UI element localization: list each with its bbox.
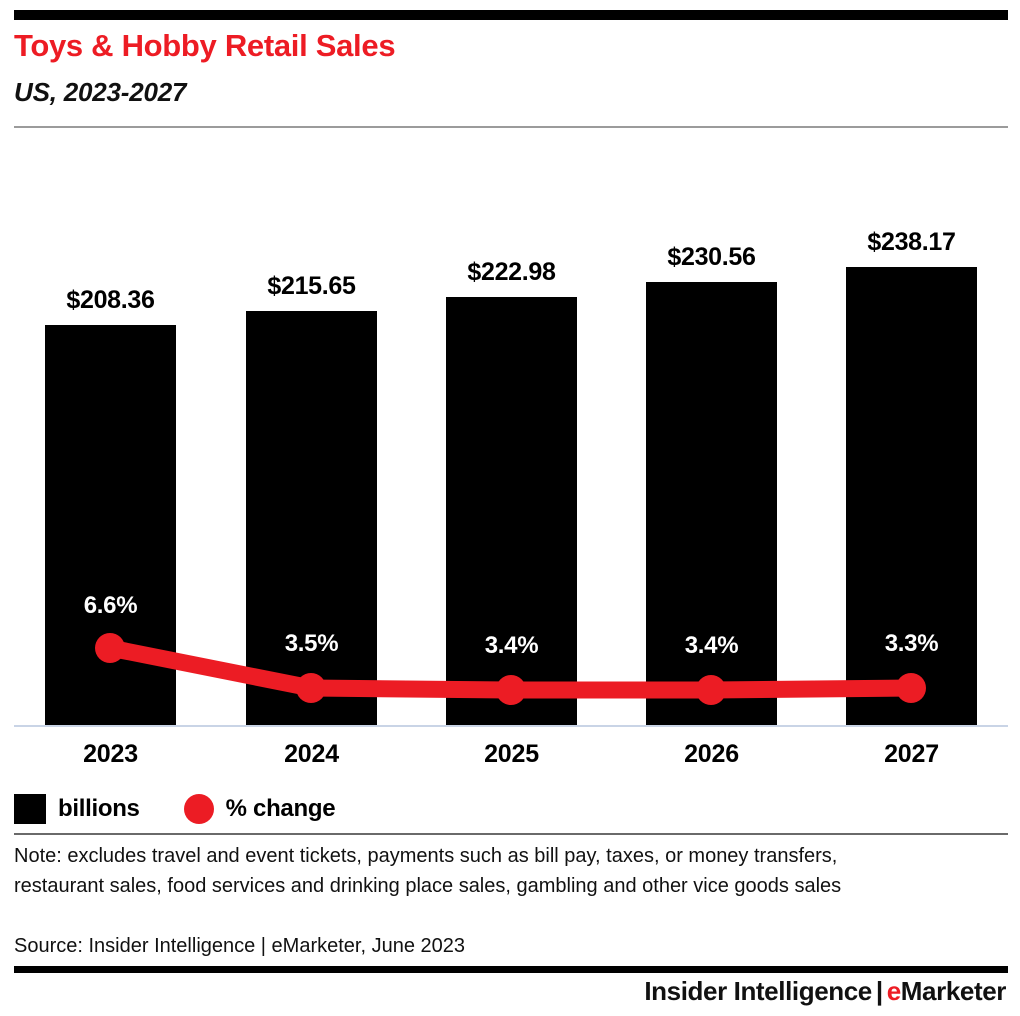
pct-label-2026: 3.4% bbox=[631, 632, 792, 660]
pct-label-2025: 3.4% bbox=[431, 632, 592, 660]
chart-legend: billions % change bbox=[14, 792, 379, 826]
chart-plot-area: $208.36 $215.65 $222.98 $230.56 $238.17 … bbox=[0, 150, 1020, 730]
top-rule bbox=[14, 10, 1008, 20]
brand-separator: | bbox=[872, 976, 887, 1006]
legend-label-billions: billions bbox=[58, 795, 140, 823]
x-tick-2023: 2023 bbox=[30, 740, 191, 769]
chart-note: Note: excludes travel and event tickets,… bbox=[14, 841, 930, 901]
footer-rule bbox=[14, 966, 1008, 973]
x-tick-2025: 2025 bbox=[431, 740, 592, 769]
header-divider bbox=[14, 126, 1008, 128]
chart-page: Toys & Hobby Retail Sales US, 2023-2027 … bbox=[0, 0, 1020, 1016]
legend-item-billions: billions bbox=[14, 794, 140, 824]
brand-insider-intelligence: Insider Intelligence bbox=[644, 976, 872, 1006]
brand-emarketer-marketer: Marketer bbox=[901, 976, 1006, 1006]
legend-label-percent-change: % change bbox=[226, 795, 336, 823]
x-tick-2026: 2026 bbox=[631, 740, 792, 769]
pct-label-2027: 3.3% bbox=[831, 630, 992, 658]
page-title: Toys & Hobby Retail Sales bbox=[14, 28, 914, 64]
note-divider bbox=[14, 833, 1008, 835]
chart-source: Source: Insider Intelligence | eMarketer… bbox=[14, 932, 974, 960]
page-subtitle: US, 2023-2027 bbox=[14, 76, 914, 108]
pct-label-2023: 6.6% bbox=[30, 592, 191, 620]
brand-emarketer-e: e bbox=[887, 976, 901, 1006]
legend-square-icon bbox=[14, 794, 46, 824]
brand-lockup: Insider Intelligence|eMarketer bbox=[644, 976, 1006, 1007]
x-tick-2027: 2027 bbox=[831, 740, 992, 769]
x-tick-2024: 2024 bbox=[231, 740, 392, 769]
pct-label-2024: 3.5% bbox=[231, 630, 392, 658]
legend-item-percent-change: % change bbox=[184, 794, 336, 824]
legend-circle-icon bbox=[184, 794, 214, 824]
